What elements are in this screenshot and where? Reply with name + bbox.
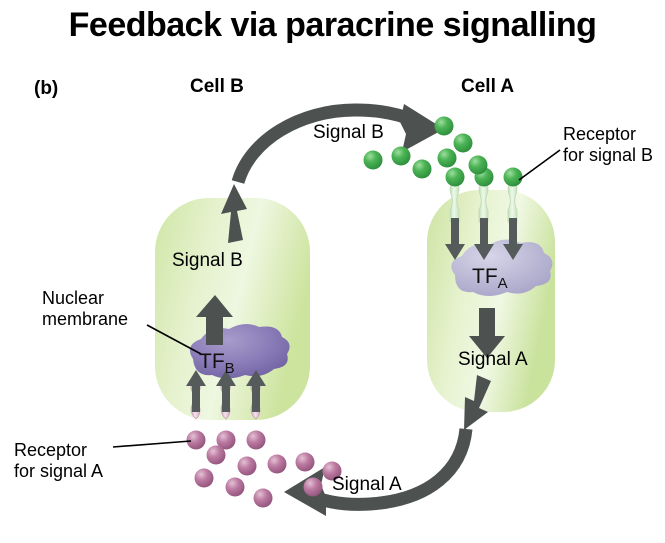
signal-b-molecule bbox=[435, 117, 454, 136]
nucleus-b-label: TFB bbox=[199, 350, 235, 377]
nucleus-b-label-sub: B bbox=[225, 360, 235, 377]
nucleus-a-label: TFA bbox=[472, 265, 508, 292]
transduction-arrows-cell-a bbox=[445, 218, 523, 260]
signal-a-molecule bbox=[296, 453, 315, 472]
nucleus-a-label-main: TF bbox=[472, 265, 498, 288]
signal-b-molecule bbox=[454, 134, 473, 153]
signal-a-molecule bbox=[207, 446, 226, 465]
signal-b-molecule bbox=[438, 149, 457, 168]
signal-a-molecule bbox=[226, 478, 245, 497]
signal-b-molecule bbox=[413, 160, 432, 179]
signal-a-molecule bbox=[268, 455, 287, 474]
diagram-canvas: Feedback via paracrine signalling (b) Ce… bbox=[0, 0, 665, 543]
receptor-b-label: Receptor for signal B bbox=[563, 124, 653, 166]
signal-b-arc-label: Signal B bbox=[313, 122, 384, 144]
cell-a-body bbox=[427, 190, 555, 412]
nucleus-a-label-sub: A bbox=[498, 275, 508, 292]
cell-b-signal-label: Signal B bbox=[172, 250, 243, 272]
signal-a-arc-arrow bbox=[284, 429, 466, 516]
signal-b-molecule bbox=[469, 156, 488, 175]
receptor-b-leader bbox=[519, 150, 560, 180]
signal-a-molecule bbox=[195, 469, 214, 488]
signal-a-molecule bbox=[304, 478, 323, 497]
receptor-a-leader bbox=[113, 441, 191, 447]
receptor-a-label: Receptor for signal A bbox=[14, 440, 103, 482]
signal-a-arc-label: Signal A bbox=[332, 474, 402, 496]
signal-b-molecule bbox=[364, 151, 383, 170]
signal-b-molecule bbox=[392, 147, 411, 166]
nuclear-membrane-label: Nuclear membrane bbox=[42, 288, 128, 330]
cell-a-signal-label: Signal A bbox=[458, 349, 528, 371]
nucleus-b-label-main: TF bbox=[199, 350, 225, 373]
signal-a-molecule bbox=[254, 489, 273, 508]
signal-a-molecule bbox=[238, 457, 257, 476]
receptor-b-group[interactable] bbox=[446, 168, 523, 223]
